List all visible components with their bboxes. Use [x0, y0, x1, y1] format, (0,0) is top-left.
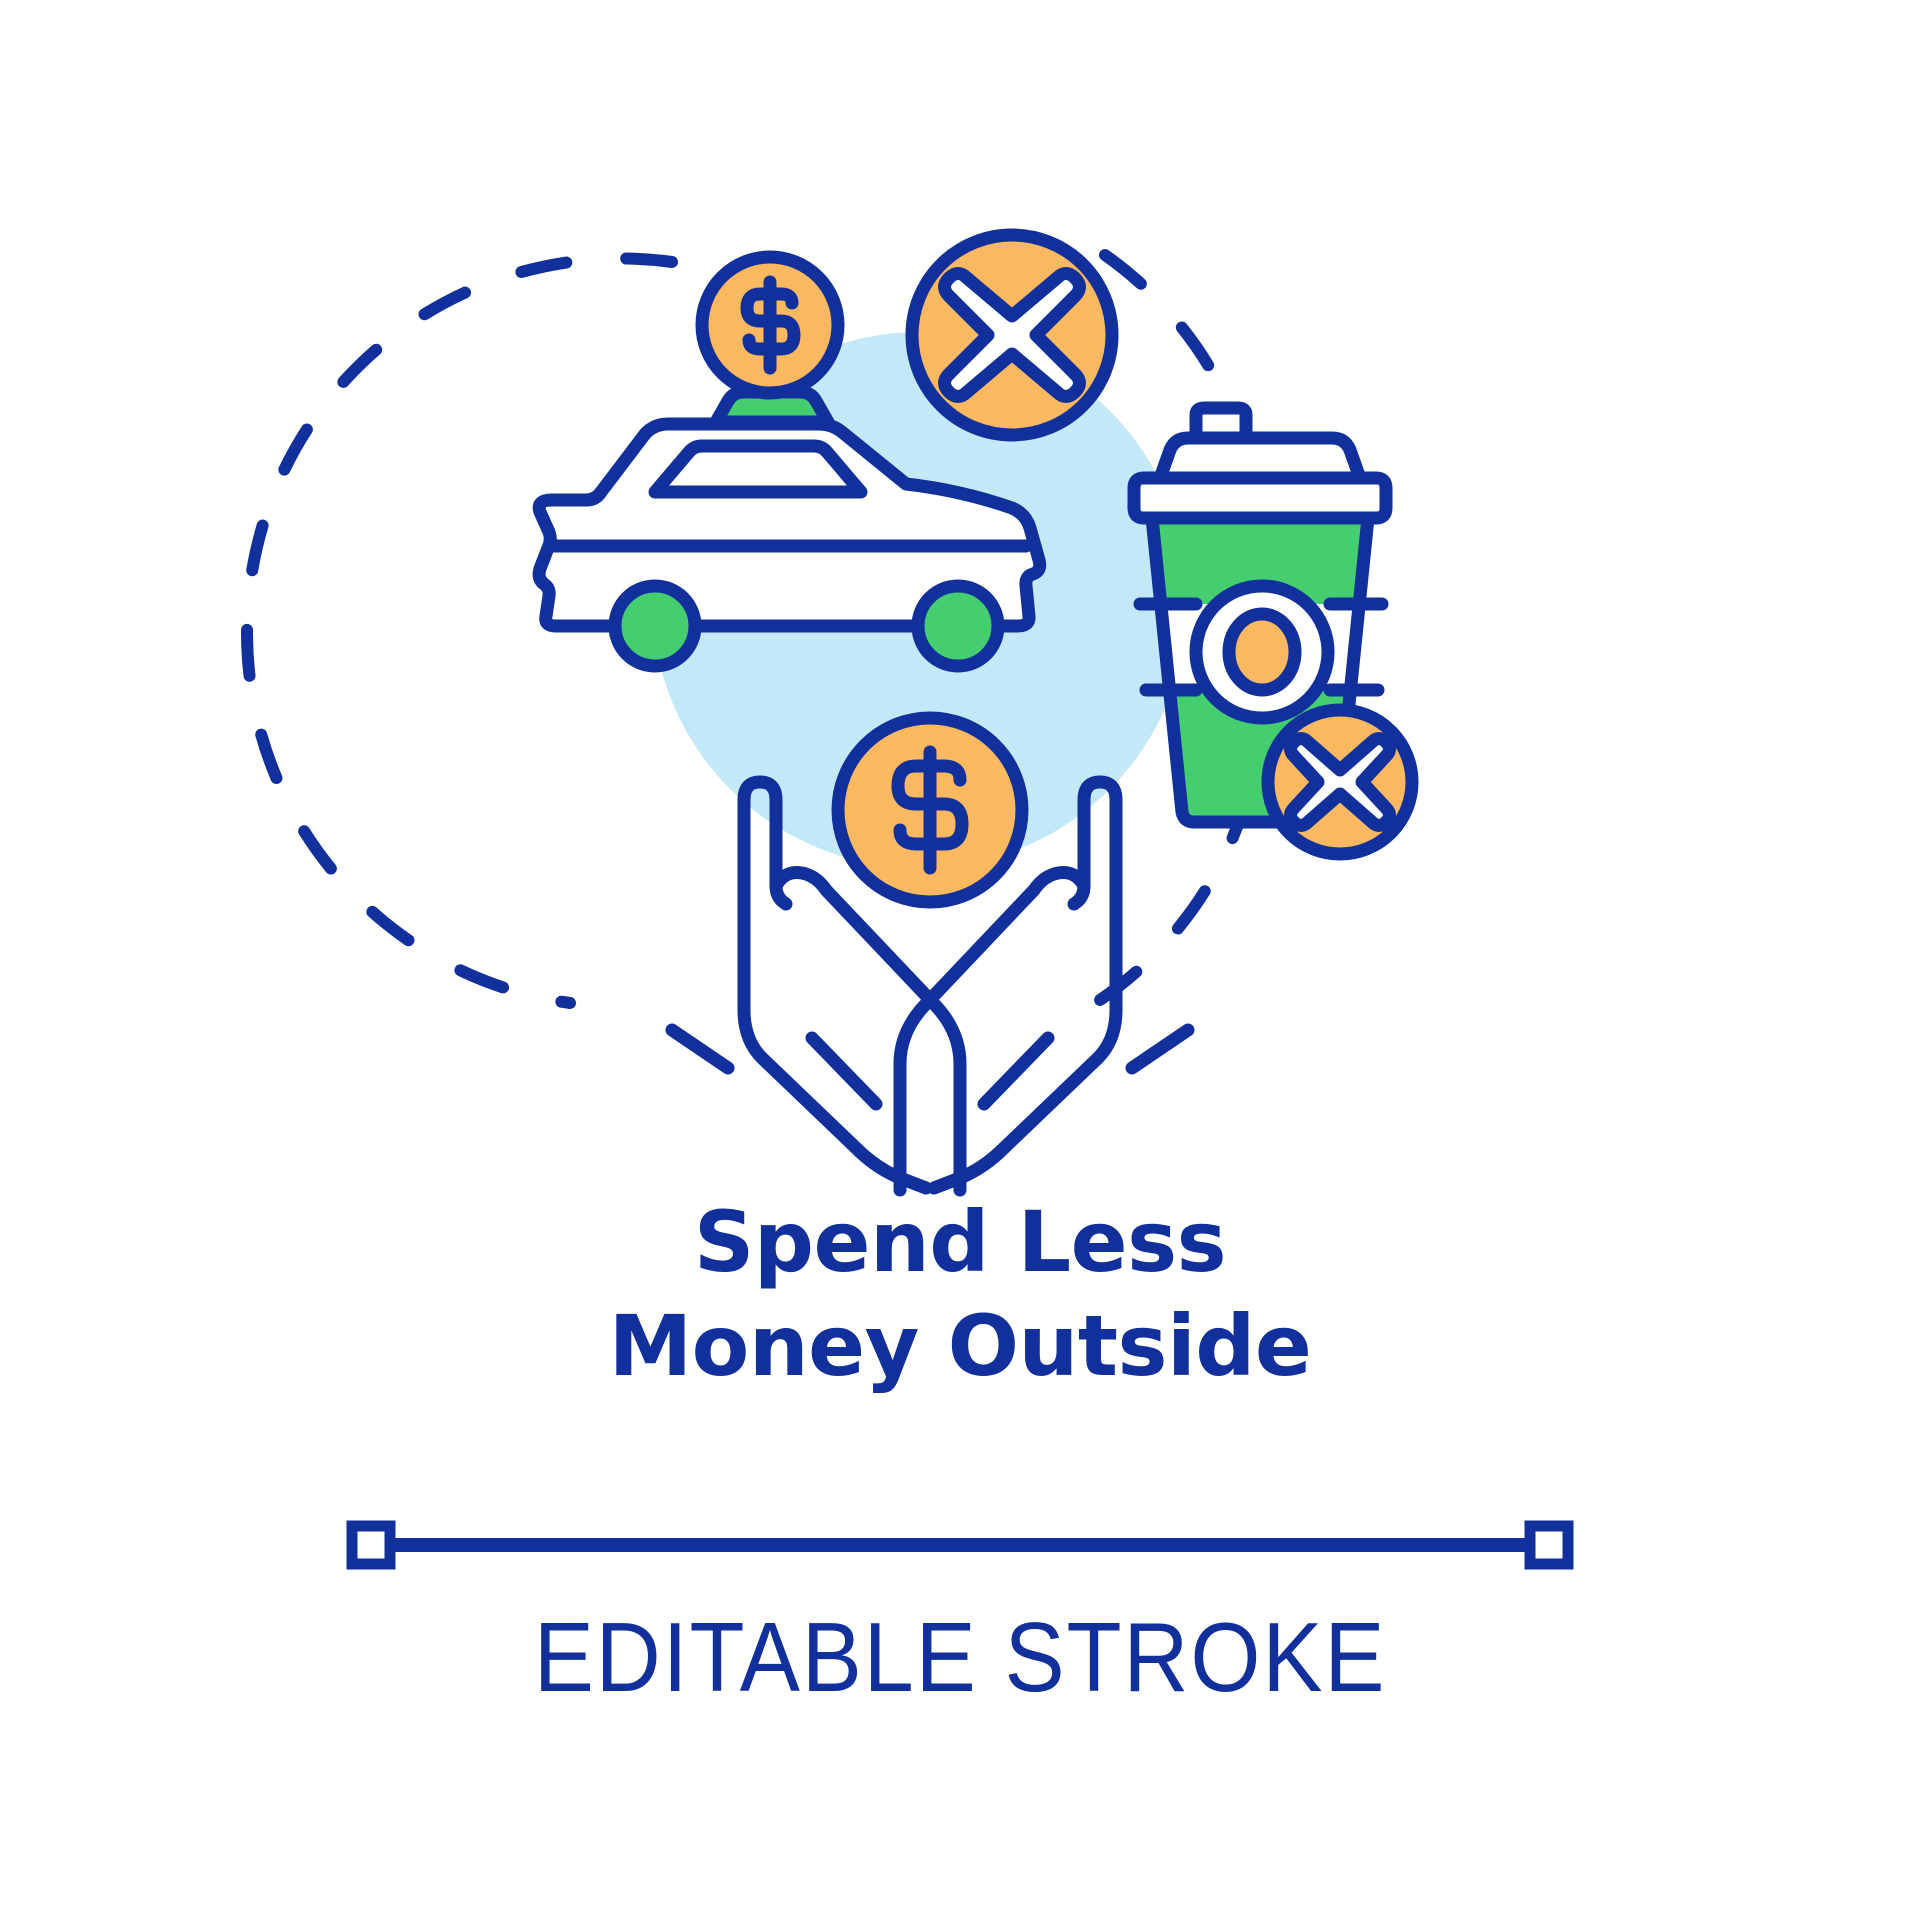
title-line-2: Money Outside: [0, 1294, 1920, 1398]
taxi-wheel-front: [615, 586, 695, 666]
hand-left-crease: [812, 1038, 876, 1104]
stroke-width-bar: [0, 1500, 1920, 1590]
cup-logo-dot: [1229, 614, 1295, 690]
cross-badge-large: [912, 235, 1112, 435]
cross-badge-small: [1268, 710, 1412, 854]
illustration-area: [0, 0, 1920, 1260]
taxi-window: [655, 446, 861, 492]
editable-stroke-indicator: EDITABLE STROKE: [0, 1500, 1920, 1714]
title-line-1: Spend Less: [0, 1190, 1920, 1294]
hand-left-cuff: [672, 1030, 728, 1068]
stroke-handle-right: [1530, 1526, 1568, 1564]
taxi-wheel-rear: [918, 586, 998, 666]
concept-illustration-svg: [0, 0, 1920, 1260]
hand-left-palm: [776, 873, 960, 1191]
dollar-coin-large: [838, 718, 1022, 902]
hand-right-palm: [900, 873, 1084, 1191]
stroke-handle-left: [352, 1526, 390, 1564]
hand-right-crease: [984, 1038, 1048, 1104]
dollar-coin-small: [702, 257, 838, 393]
concept-icon-page: Spend Less Money Outside EDITABLE STROKE: [0, 0, 1920, 1920]
hand-right-cuff: [1132, 1030, 1188, 1068]
concept-title: Spend Less Money Outside: [0, 1190, 1920, 1398]
editable-stroke-caption: EDITABLE STROKE: [77, 1601, 1843, 1714]
